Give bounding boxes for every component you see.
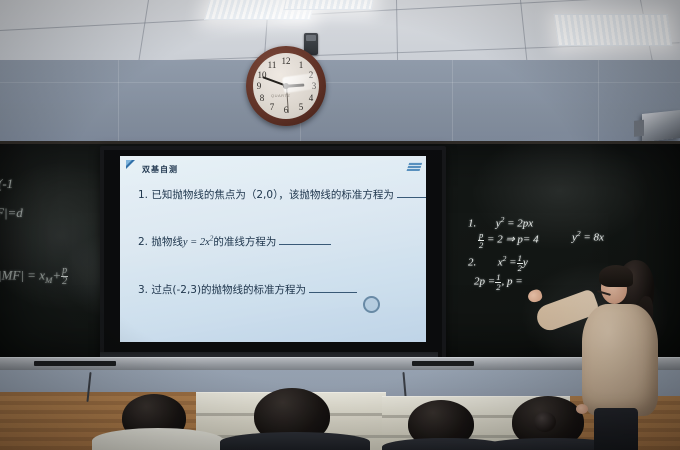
interactive-whiteboard[interactable]: 双基自测 1. 已知抛物线的焦点为（2,0），该抛物线的标准方程为 2. 抛物线…: [100, 146, 446, 366]
board-right-item1b: p2 = 2 ⇒ p= 4: [478, 231, 539, 249]
clock-numeral: 8: [256, 93, 268, 103]
wall-clock: 12 1 2 3 4 5 6 7 8 9 10 11 QUARTZ: [246, 46, 326, 126]
clock-face: 12 1 2 3 4 5 6 7 8 9 10 11 QUARTZ: [253, 53, 319, 119]
board-right-item1-sup: 2: [501, 215, 505, 224]
question-1-number: 1.: [138, 189, 148, 201]
question-2-suffix: 的准线方程为: [213, 236, 276, 248]
board-right-item1c-sup: 2: [577, 229, 581, 238]
blackboard-top-frame: [0, 141, 680, 144]
question-2-prefix: 抛物线: [151, 236, 183, 248]
lesson-slide[interactable]: 双基自测 1. 已知抛物线的焦点为（2,0），该抛物线的标准方程为 2. 抛物线…: [120, 156, 426, 342]
teacher: [568, 252, 680, 450]
board-right-item1: 1. y2 = 2px: [468, 215, 533, 230]
slide-question-1: 1. 已知抛物线的焦点为（2,0），该抛物线的标准方程为: [138, 187, 426, 202]
board-right-item2b-tail: , p =: [501, 276, 522, 288]
clock-numeral: 1: [295, 60, 307, 70]
board-left-plus: +: [52, 268, 61, 283]
board-left-line-2: F|=d: [0, 205, 23, 221]
teacher-coat: [582, 304, 658, 416]
question-2-blank[interactable]: [279, 244, 331, 245]
question-3-number: 3.: [138, 284, 148, 296]
board-left-line-1: (-1: [0, 176, 13, 192]
board-right-item2: 2. x2 =12y: [468, 254, 528, 272]
slide-title: 双基自测: [142, 164, 178, 175]
slide-badge-icon: [407, 162, 423, 171]
student-2: [226, 388, 362, 450]
board-left-fraction: p2: [61, 266, 68, 287]
board-right-item1-label: 1.: [468, 218, 476, 230]
clock-numeral: 7: [266, 102, 278, 112]
teacher-trousers: [594, 408, 638, 450]
teacher-lower-hand: [576, 404, 588, 414]
slide-corner-mark-inner-icon: [126, 160, 132, 166]
student-3: [386, 400, 500, 450]
student-shoulders: [220, 432, 370, 450]
slide-question-2: 2. 抛物线y = 2x2的准线方程为: [138, 234, 331, 249]
board-right-item2-tail: y: [523, 257, 528, 269]
annotation-cursor-ring-icon[interactable]: [363, 296, 380, 313]
board-right-item2-rest: =: [509, 257, 516, 269]
board-right-item1-rest: = 2px: [507, 218, 533, 230]
board-right-item1b-num: p: [478, 231, 484, 240]
student-1: [96, 394, 216, 450]
question-1-blank[interactable]: [397, 197, 426, 198]
clock-numeral: 9: [253, 81, 265, 91]
board-left-mf: |MF| = x: [0, 268, 45, 283]
board-right-item1c-rest: = 8x: [583, 232, 604, 244]
board-right-item2b-lead: 2p =: [474, 276, 495, 288]
wall-mounted-speaker: [642, 110, 680, 142]
board-right-item1b-fraction: p2: [478, 231, 484, 249]
question-3-blank[interactable]: [309, 292, 357, 293]
student-hair-bun: [534, 412, 556, 432]
board-left-frac-den: 2: [61, 276, 68, 287]
ceiling-light-panel: [554, 14, 672, 46]
board-left-line-3: |MF| = xM+p2: [0, 266, 68, 287]
question-1-text: 已知抛物线的焦点为（2,0），该抛物线的标准方程为: [151, 189, 393, 201]
slide-question-3: 3. 过点(-2,3)的抛物线的标准方程为: [138, 282, 357, 297]
board-right-item1b-den: 2: [478, 240, 484, 250]
clock-numeral: 6: [280, 105, 292, 115]
board-right-item2-sup: 2: [503, 254, 507, 263]
teacher-hair-front: [599, 265, 633, 287]
board-left-frac-num: p: [61, 266, 68, 276]
board-right-item2b: 2p =12, p =: [474, 273, 523, 291]
board-right-item2-label: 2.: [468, 257, 476, 269]
board-right-item1b-rest: = 2 ⇒ p= 4: [487, 234, 539, 246]
clock-numeral: 5: [295, 102, 307, 112]
clock-numeral: 12: [280, 56, 292, 66]
classroom-scene: 12 1 2 3 4 5 6 7 8 9 10 11 QUARTZ (-1 F|: [0, 0, 680, 450]
clock-numeral: 11: [266, 60, 278, 70]
question-2-formula: y = 2x: [183, 237, 210, 248]
board-right-item1c: y2 = 8x: [572, 229, 604, 244]
ceiling-light-panel: [283, 0, 376, 10]
student-shoulders: [92, 428, 224, 450]
question-2-number: 2.: [138, 236, 148, 248]
question-3-text: 过点(-2,3)的抛物线的标准方程为: [151, 284, 306, 296]
upper-wall: [0, 60, 680, 145]
